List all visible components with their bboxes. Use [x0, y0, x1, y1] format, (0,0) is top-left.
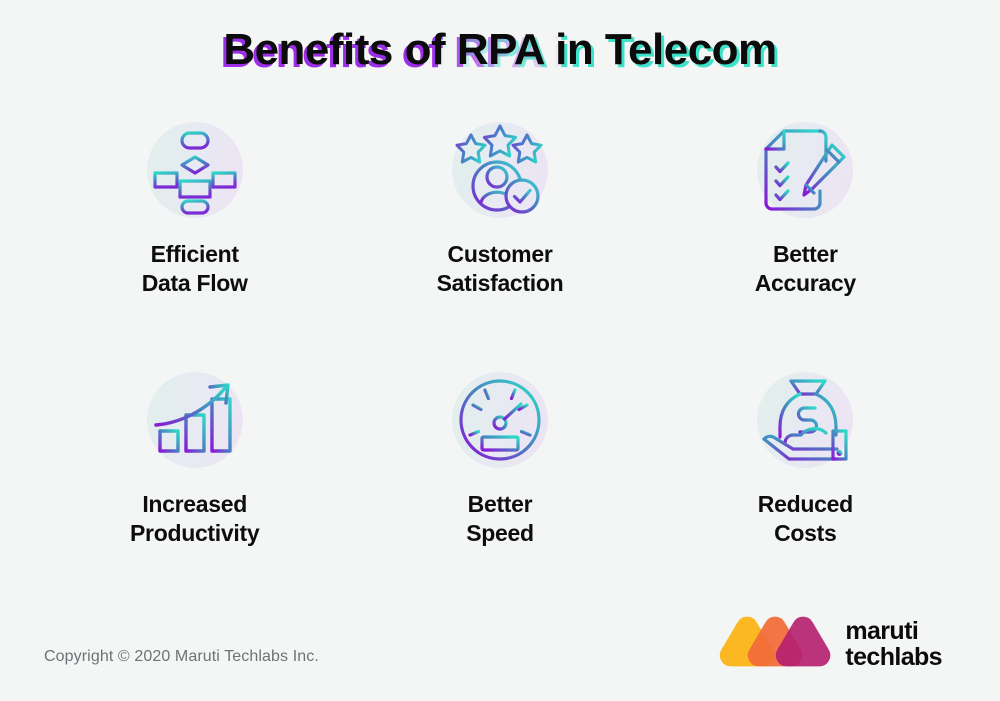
- page-title-text: Benefits of RPA in Telecom: [223, 25, 776, 74]
- benefits-grid: Efficient Data Flow: [42, 122, 958, 622]
- benefit-label: Reduced Costs: [758, 490, 853, 549]
- benefit-label: Better Accuracy: [755, 240, 856, 299]
- icon-background-circle: [147, 372, 243, 468]
- benefit-item-better-speed: Better Speed: [347, 372, 652, 622]
- benefit-item-efficient-data-flow: Efficient Data Flow: [42, 122, 347, 372]
- copyright-text: Copyright © 2020 Maruti Techlabs Inc.: [44, 648, 319, 666]
- benefit-item-better-accuracy: Better Accuracy: [653, 122, 958, 372]
- benefit-item-increased-productivity: Increased Productivity: [42, 372, 347, 622]
- benefit-label: Better Speed: [466, 490, 534, 549]
- checklist-pencil-icon: [760, 125, 850, 215]
- icon-background-circle: [452, 372, 548, 468]
- page-title-container: Benefits of RPA in Telecom Benefits of R…: [0, 24, 1000, 77]
- speedometer-icon: [457, 377, 543, 463]
- flowchart-icon: [152, 127, 238, 213]
- benefit-label: Increased Productivity: [130, 490, 259, 549]
- maruti-techlabs-logo-icon: [719, 616, 831, 672]
- icon-background-circle: [757, 372, 853, 468]
- benefit-label: Customer Satisfaction: [437, 240, 564, 299]
- brand-name: maruti techlabs: [845, 618, 942, 671]
- benefit-item-customer-satisfaction: Customer Satisfaction: [347, 122, 652, 372]
- icon-background-circle: [757, 122, 853, 218]
- growth-chart-icon: [150, 377, 240, 463]
- page-title: Benefits of RPA in Telecom Benefits of R…: [223, 24, 776, 77]
- money-bag-hand-icon: [759, 377, 851, 463]
- benefit-item-reduced-costs: Reduced Costs: [653, 372, 958, 622]
- brand-logo: maruti techlabs: [719, 616, 942, 672]
- benefit-label: Efficient Data Flow: [142, 240, 248, 299]
- icon-background-circle: [147, 122, 243, 218]
- icon-background-circle: [452, 122, 548, 218]
- user-rating-icon: [455, 126, 545, 214]
